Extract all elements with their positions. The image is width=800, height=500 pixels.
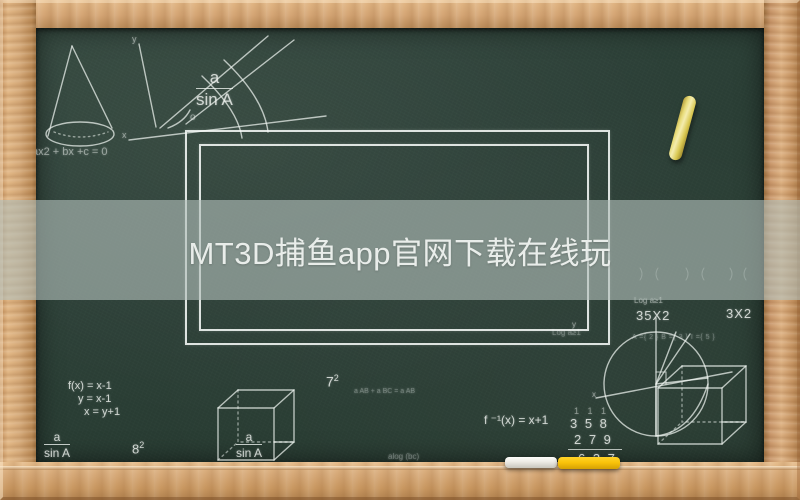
eight-squared: 82 (132, 440, 144, 457)
inverse-function-expression: f ⁻¹(x) = x+1 (484, 413, 548, 427)
angle-label-o: o (190, 112, 196, 124)
screenshot-root: a sin A ax2 + bx +c = 0 y x o f(x) = x-1… (0, 0, 800, 500)
axis-label-x-bottomright: x (592, 390, 596, 399)
fraction-a-over-sinA-bottommid: a sin A (236, 430, 262, 460)
function-line-2: y = x-1 (68, 393, 120, 406)
subtraction-subtrahend: 2 7 9 (574, 432, 613, 447)
page-title: MT3D捕鱼app官网下载在线玩 (0, 228, 800, 273)
axis-label-y-topleft: y (132, 34, 137, 45)
subtraction-rule-line (568, 449, 622, 450)
yellow-chalk-ledge[interactable] (558, 457, 620, 469)
cone-diagram (46, 46, 114, 146)
multiplication-35x2: 35X2 (636, 308, 670, 323)
subtraction-minuend: 3 5 8 (570, 416, 609, 431)
quadratic-formula-text: ax2 + bx +c = 0 (36, 146, 108, 159)
seven-squared: 72 (326, 373, 339, 390)
alog-expression: alog (bc) (388, 452, 419, 461)
fraction-a-over-sinA-topleft: a sin A (196, 68, 233, 110)
function-line-3: x = y+1 (68, 406, 120, 419)
white-chalk-ledge[interactable] (505, 457, 557, 468)
set-notation-expression: A ={ 2 } B ={ 3 } I ={ 5 } (632, 334, 715, 342)
axis-label-x-topleft: x (122, 130, 127, 141)
fraction-a-over-sinA-bottomleft: a sin A (44, 430, 70, 460)
function-lines-block: f(x) = x-1 y = x-1 x = y+1 (68, 380, 120, 419)
function-line-1: f(x) = x-1 (68, 380, 120, 393)
tiny-vector-formula: a AB + a BC = a AB (354, 388, 415, 396)
multiplication-3x2: 3X2 (726, 306, 752, 321)
